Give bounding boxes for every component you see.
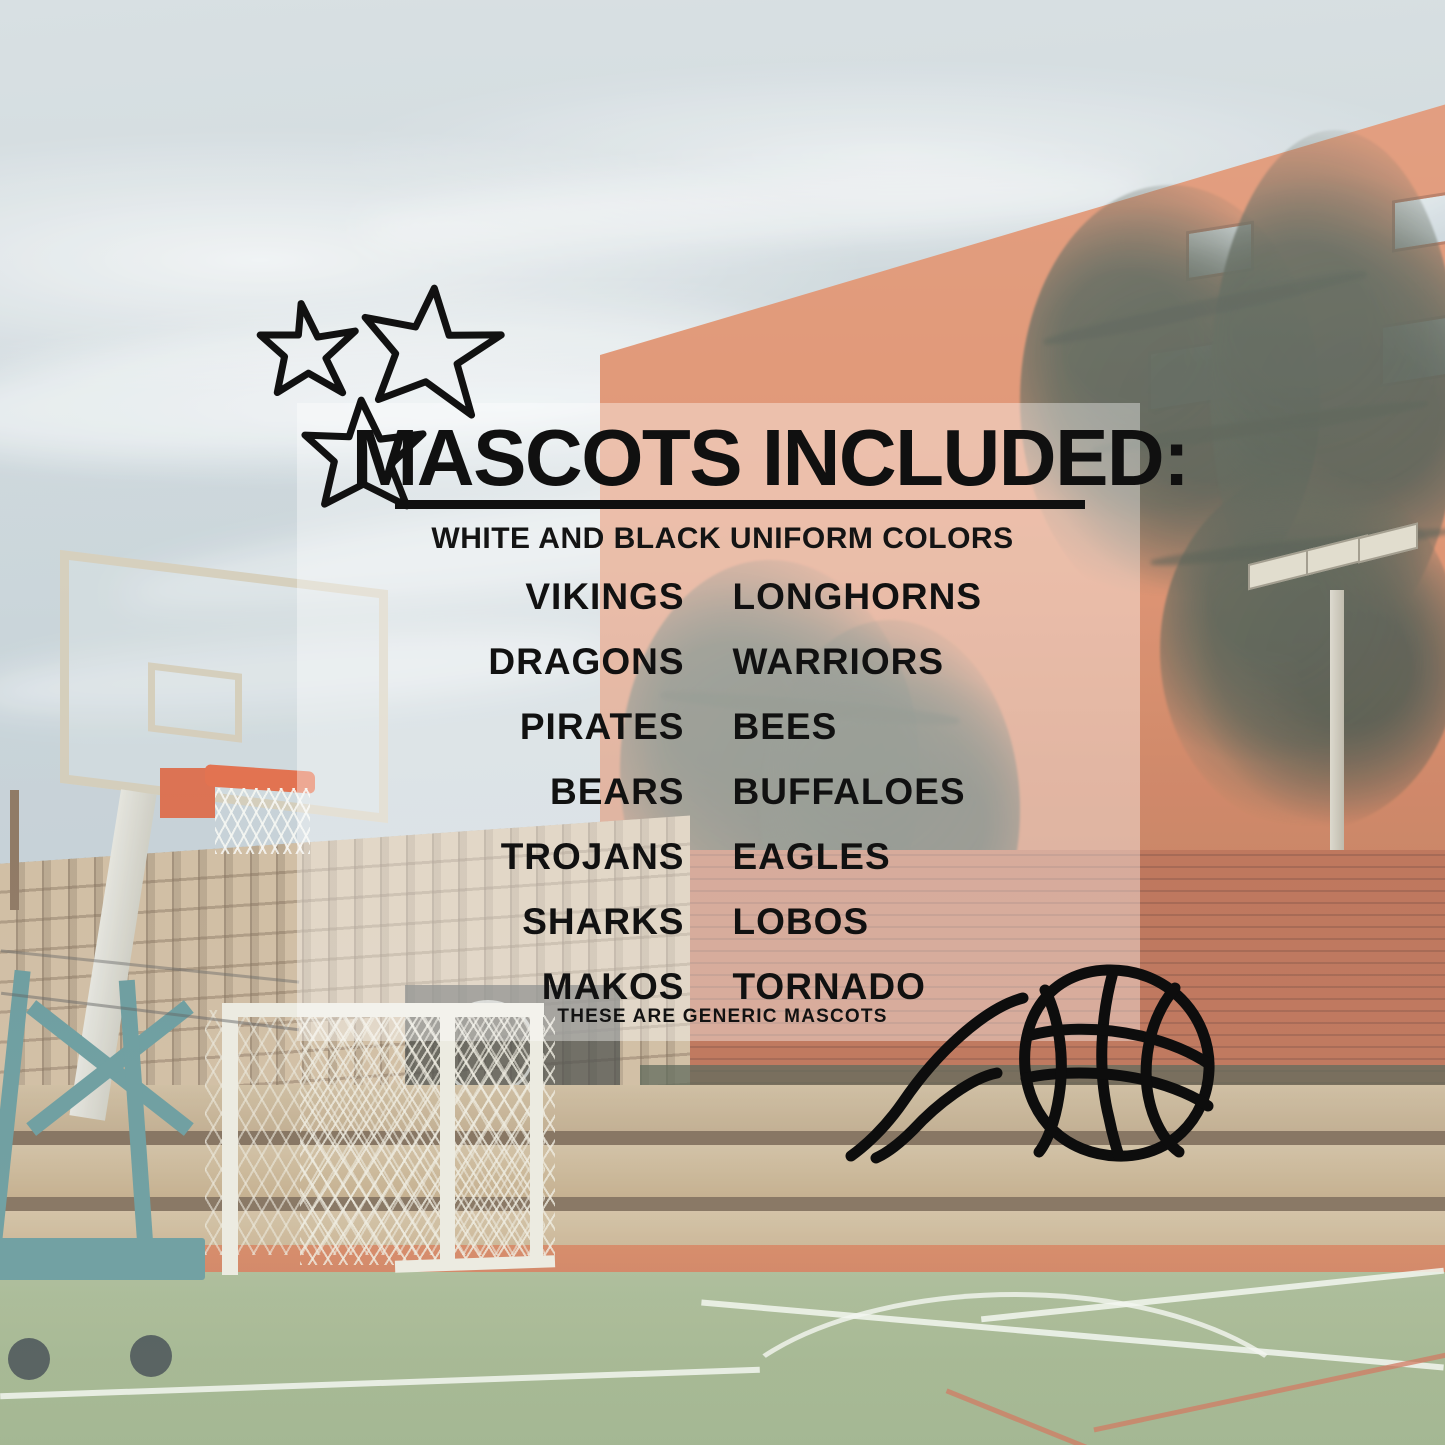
footnote: THESE ARE GENERIC MASCOTS [0,1006,1445,1028]
mascot-name-right: WARRIORS [709,643,1053,680]
mascot-row: TROJANS EAGLES [297,838,1140,903]
mascot-name-left: TROJANS [385,838,709,875]
title-underline [395,500,1085,509]
page-title: MASCOTS INCLUDED: [257,418,1189,498]
mascot-row: BEARS BUFFALOES [297,773,1140,838]
mascot-list: VIKINGS LONGHORNS DRAGONS WARRIORS PIRAT… [297,578,1140,1033]
mascot-row: PIRATES BEES [297,708,1140,773]
mascot-name-left: PIRATES [385,708,709,745]
poster-canvas: MASCOTS INCLUDED: WHITE AND BLACK UNIFOR… [0,0,1445,1445]
star-large-icon [359,283,504,416]
star-small-icon [257,298,361,400]
mascot-name-right: BUFFALOES [709,773,1053,810]
mascot-name-right: EAGLES [709,838,1053,875]
mascot-name-left: BEARS [385,773,709,810]
mascot-row: VIKINGS LONGHORNS [297,578,1140,643]
mascot-name-right: BEES [709,708,1053,745]
subtitle: WHITE AND BLACK UNIFORM COLORS [0,522,1445,556]
mascot-name-right: LONGHORNS [709,578,1053,615]
mascot-name-left: SHARKS [385,903,709,940]
mascot-row: SHARKS LOBOS [297,903,1140,968]
mascot-row: DRAGONS WARRIORS [297,643,1140,708]
mascot-name-left: DRAGONS [385,643,709,680]
mascot-name-right: TORNADO [709,968,1053,1005]
mascot-name-right: LOBOS [709,903,1053,940]
mascot-name-left: VIKINGS [385,578,709,615]
page-title-wrap: MASCOTS INCLUDED: [0,418,1445,498]
mascot-name-left: MAKOS [385,968,709,1005]
